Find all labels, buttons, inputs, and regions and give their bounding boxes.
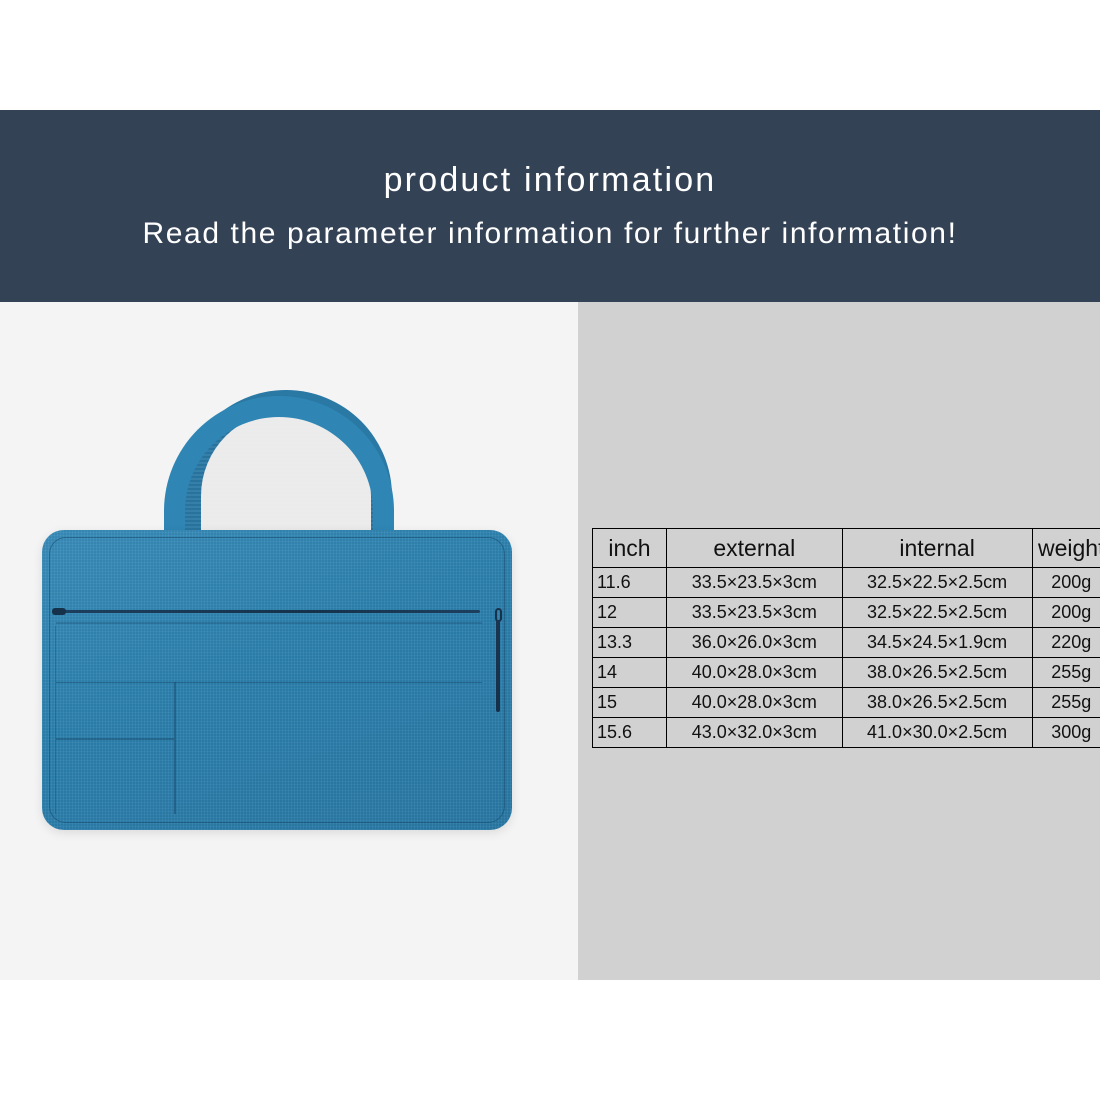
- cell-inch: 11.6: [593, 568, 667, 598]
- cell-internal: 32.5×22.5×2.5cm: [842, 598, 1032, 628]
- cell-external: 43.0×32.0×3cm: [666, 718, 842, 748]
- product-photo-panel: [0, 302, 578, 980]
- cell-internal: 38.0×26.5×2.5cm: [842, 658, 1032, 688]
- bag-side-seam: [42, 626, 56, 814]
- cell-external: 40.0×28.0×3cm: [666, 658, 842, 688]
- column-header-inch: inch: [593, 529, 667, 568]
- page-subtitle: Read the parameter information for furth…: [142, 216, 957, 252]
- column-header-internal: internal: [842, 529, 1032, 568]
- product-information-page: product information Read the parameter i…: [0, 0, 1100, 1100]
- cell-inch: 12: [593, 598, 667, 628]
- cell-internal: 38.0×26.5×2.5cm: [842, 688, 1032, 718]
- table-row: 15.6 43.0×32.0×3cm 41.0×30.0×2.5cm 300g: [593, 718, 1100, 748]
- bag-zipper-icon: [58, 610, 480, 613]
- bag-front-pocket: [56, 682, 482, 814]
- cell-internal: 34.5×24.5×1.9cm: [842, 628, 1032, 658]
- content-panels: inch external internal weight 11.6 33.5×…: [0, 302, 1100, 980]
- product-image-laptop-bag: [42, 530, 512, 830]
- cell-external: 36.0×26.0×3cm: [666, 628, 842, 658]
- cell-weight: 300g: [1032, 718, 1100, 748]
- bag-pocket-slot: [56, 738, 174, 740]
- table-row: 11.6 33.5×23.5×3cm 32.5×22.5×2.5cm 200g: [593, 568, 1100, 598]
- specification-table: inch external internal weight 11.6 33.5×…: [592, 528, 1100, 748]
- cell-inch: 14: [593, 658, 667, 688]
- bag-pocket-divider: [174, 682, 176, 814]
- cell-internal: 32.5×22.5×2.5cm: [842, 568, 1032, 598]
- cell-inch: 15.6: [593, 718, 667, 748]
- cell-external: 33.5×23.5×3cm: [666, 568, 842, 598]
- column-header-external: external: [666, 529, 842, 568]
- table-row: 14 40.0×28.0×3cm 38.0×26.5×2.5cm 255g: [593, 658, 1100, 688]
- bag-zipper-seam: [56, 622, 482, 624]
- column-header-weight: weight: [1032, 529, 1100, 568]
- page-title: product information: [384, 160, 717, 201]
- cell-weight: 220g: [1032, 628, 1100, 658]
- zipper-cord: [496, 620, 500, 712]
- bag-zipper-pull-icon: [493, 608, 504, 712]
- table-row: 12 33.5×23.5×3cm 32.5×22.5×2.5cm 200g: [593, 598, 1100, 628]
- cell-external: 40.0×28.0×3cm: [666, 688, 842, 718]
- table-row: 13.3 36.0×26.0×3cm 34.5×24.5×1.9cm 220g: [593, 628, 1100, 658]
- cell-internal: 41.0×30.0×2.5cm: [842, 718, 1032, 748]
- cell-inch: 13.3: [593, 628, 667, 658]
- banner: product information Read the parameter i…: [0, 110, 1100, 302]
- cell-weight: 255g: [1032, 658, 1100, 688]
- cell-weight: 200g: [1032, 568, 1100, 598]
- cell-weight: 200g: [1032, 598, 1100, 628]
- table-header-row: inch external internal weight: [593, 529, 1100, 568]
- cell-inch: 15: [593, 688, 667, 718]
- spec-table-panel: inch external internal weight 11.6 33.5×…: [578, 302, 1100, 980]
- cell-weight: 255g: [1032, 688, 1100, 718]
- table-row: 15 40.0×28.0×3cm 38.0×26.5×2.5cm 255g: [593, 688, 1100, 718]
- cell-external: 33.5×23.5×3cm: [666, 598, 842, 628]
